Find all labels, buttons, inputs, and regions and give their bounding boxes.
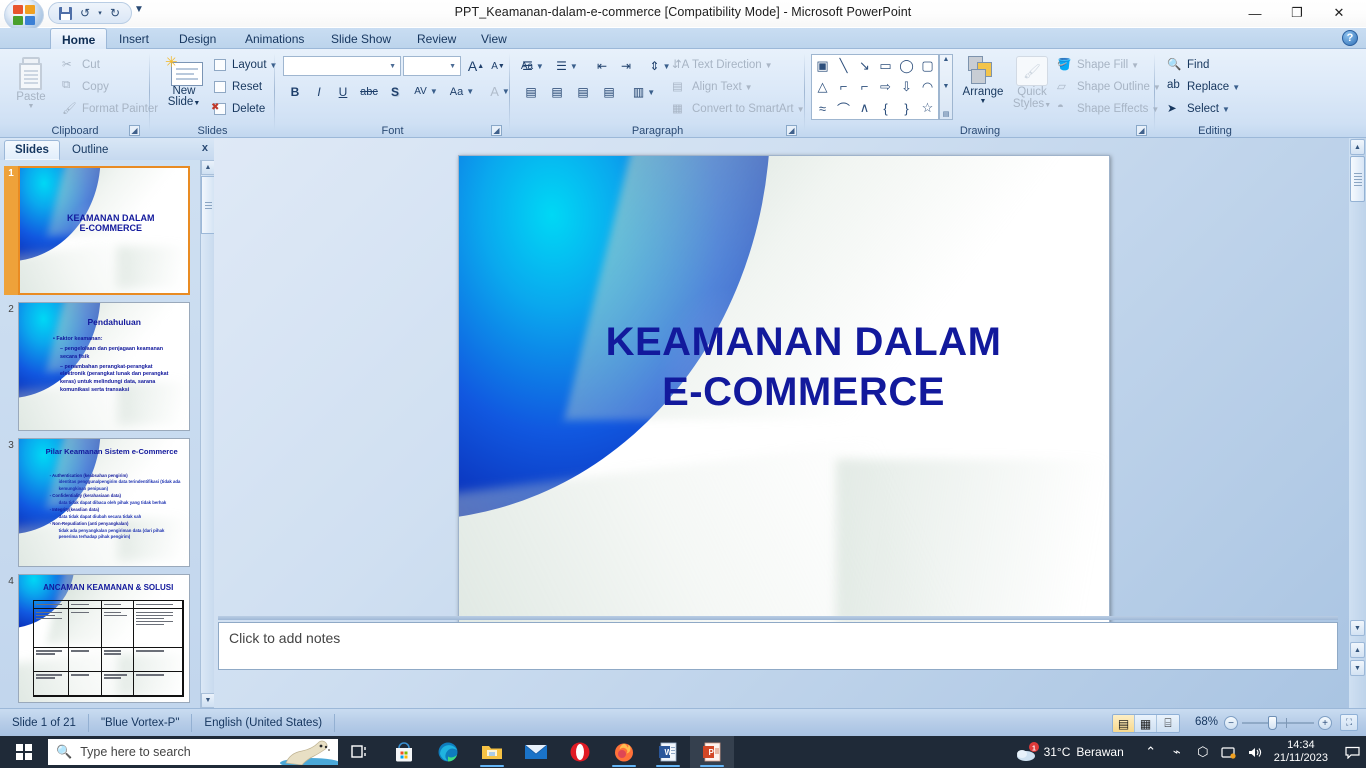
- search-icon: 🔍: [56, 744, 72, 760]
- language-indicator[interactable]: English (United States): [192, 714, 335, 732]
- cursor-icon: ➤: [1167, 101, 1183, 117]
- shape-fill-icon: 🪣: [1057, 57, 1073, 73]
- tab-design[interactable]: Design: [168, 28, 227, 49]
- slide-thumbnail-list[interactable]: 1 KEAMANAN DALAM E-COMMERCE 2 Pendahulua…: [0, 160, 200, 708]
- shape-right-arrow-icon[interactable]: ⇨: [875, 76, 896, 97]
- zoom-handle[interactable]: [1268, 716, 1277, 730]
- group-drawing: ▣ ╲ ↘ ▭ ◯ ▢ △ ⌐ ⌐ ⇨ ⇩ ◠ ≈ ⌒ ∧ { } ☆ ▲ ▼ …: [805, 49, 1155, 138]
- weather-widget[interactable]: 1 31°C Berawan: [1014, 741, 1124, 763]
- slide-title-line-1: KEAMANAN DALAM: [537, 317, 1070, 367]
- microsoft-edge-icon: [437, 741, 459, 763]
- arrange-label: Arrange: [963, 86, 1004, 98]
- group-paragraph: ☰▼ ☰▼ ⇤ ⇥ ⇕▼ ▤ ▤ ▤ ▤ ▥▼ ⇵A Text Directio…: [510, 49, 805, 138]
- text-direction-icon: ⇵A: [672, 57, 688, 73]
- scroll-thumb[interactable]: [1350, 156, 1365, 202]
- close-button[interactable]: ✕: [1318, 1, 1360, 25]
- restore-button[interactable]: ❐: [1276, 1, 1318, 25]
- tab-animations[interactable]: Animations: [234, 28, 315, 49]
- system-tray: 1 31°C Berawan ⌃ ⌁ ⬡ 14:34 21/11/2023: [1014, 736, 1366, 768]
- volume-glyph: [1247, 746, 1262, 759]
- italic-button[interactable]: I: [307, 81, 331, 102]
- underline-button[interactable]: U: [331, 81, 355, 102]
- copy-label: Copy: [82, 81, 109, 93]
- weather-badge: 1: [1032, 746, 1036, 753]
- svg-text:P: P: [709, 748, 715, 757]
- group-editing: 🔍 Find ab Replace▼ ➤ Select▼ Editing: [1155, 49, 1275, 138]
- slide-thumbnail-canvas-2[interactable]: Pendahuluan • Faktor keamanan: – pengelo…: [18, 302, 190, 431]
- shape-rectangle-icon[interactable]: ▭: [875, 55, 896, 76]
- gallery-scroll-up-icon[interactable]: ▲: [943, 56, 950, 63]
- tab-review[interactable]: Review: [406, 28, 467, 49]
- title-bar: ↺ ▾ ↻ ▼ PPT_Keamanan-dalam-e-commerce [C…: [0, 0, 1366, 28]
- cut-label: Cut: [82, 59, 100, 71]
- shape-textbox-icon[interactable]: ▣: [812, 55, 833, 76]
- shape-arrow-icon[interactable]: ↘: [854, 55, 875, 76]
- firefox-button[interactable]: [602, 736, 646, 768]
- shape-right-brace-icon[interactable]: }: [896, 98, 917, 119]
- tab-slides[interactable]: Slides: [4, 140, 60, 160]
- quick-styles-label-2: Styles: [1013, 98, 1044, 110]
- shape-curve-icon[interactable]: ⌒: [833, 98, 854, 119]
- new-slide-label-2: Slide: [168, 96, 194, 108]
- search-placeholder: Type here to search: [80, 745, 190, 759]
- seal-mascot-icon: [276, 739, 338, 765]
- slide-sorter-view-button[interactable]: ▦: [1135, 715, 1157, 732]
- slide-number-4: 4: [4, 574, 18, 703]
- align-left-button[interactable]: ▤: [518, 81, 544, 103]
- group-slides: ✳ New Slide▼ Layout▼ Reset ✖ Delete Slid…: [150, 49, 275, 138]
- camera-icon[interactable]: ⬡: [1190, 736, 1216, 768]
- font-size-combo[interactable]: ▼: [403, 56, 461, 76]
- slide-thumbnail-3[interactable]: 3 Pilar Keamanan Sistem e-Commerce - Aut…: [4, 438, 196, 567]
- shape-effects-button[interactable]: ◓ Shape Effects▼: [1057, 101, 1159, 117]
- action-center-button[interactable]: [1338, 736, 1366, 768]
- bold-button[interactable]: B: [283, 81, 307, 102]
- arrange-button[interactable]: Arrange ▼: [959, 54, 1007, 122]
- delete-slide-button[interactable]: ✖ Delete: [212, 101, 265, 117]
- clock-date: 21/11/2023: [1274, 752, 1328, 765]
- slide-thumbnail-canvas-1[interactable]: KEAMANAN DALAM E-COMMERCE: [18, 166, 190, 295]
- group-label-paragraph: Paragraph: [510, 125, 805, 137]
- group-label-slides: Slides: [150, 125, 275, 137]
- quick-styles-label-1: Quick: [1017, 86, 1046, 98]
- ribbon: Paste ▼ ✂ Cut ⧉ Copy 🖌 Format Painter Cl…: [0, 49, 1366, 138]
- task-view-button[interactable]: [338, 736, 382, 768]
- drawing-dialog-launcher[interactable]: ◢: [1136, 125, 1147, 136]
- tab-home[interactable]: Home: [50, 28, 107, 50]
- firefox-icon: [613, 741, 635, 763]
- find-button[interactable]: 🔍 Find: [1167, 57, 1209, 73]
- slides-outline-panel: Slides Outline x 1 KEAMANAN DALAM E-COMM…: [0, 138, 214, 708]
- align-text-icon: ▤: [672, 79, 688, 95]
- align-text-button[interactable]: ▤ Align Text▼: [672, 79, 753, 95]
- layout-icon: [212, 57, 228, 73]
- slide-thumbnail-2[interactable]: 2 Pendahuluan • Faktor keamanan: – penge…: [4, 302, 196, 431]
- smartart-icon: ▦: [672, 101, 688, 117]
- quick-styles-button[interactable]: 🖌 Quick Styles▼: [1009, 54, 1055, 122]
- search-input[interactable]: 🔍 Type here to search: [48, 739, 338, 765]
- thumb-table-4: [33, 600, 184, 697]
- network-glyph: [1221, 746, 1236, 759]
- shape-effects-label: Shape Effects: [1077, 103, 1148, 115]
- group-label-font: Font: [275, 125, 510, 137]
- microsoft-store-button[interactable]: [382, 736, 426, 768]
- align-text-label: Align Text: [692, 81, 742, 93]
- microsoft-powerpoint-icon: P: [701, 741, 723, 763]
- panel-scroll-up-icon[interactable]: ▲: [201, 160, 215, 175]
- next-slide-icon[interactable]: ▼: [1350, 660, 1365, 676]
- delete-label: Delete: [232, 103, 265, 115]
- main-slide-canvas[interactable]: KEAMANAN DALAM E-COMMERCE: [458, 155, 1110, 645]
- tab-view[interactable]: View: [470, 28, 518, 49]
- shape-rounded-rect-icon[interactable]: ▢: [917, 55, 938, 76]
- change-case-button[interactable]: Aa▼: [445, 81, 479, 102]
- windows-taskbar: 🔍 Type here to search: [0, 736, 1366, 768]
- cloud-icon: 1: [1014, 741, 1040, 763]
- shape-down-arrow-icon[interactable]: ⇩: [896, 76, 917, 97]
- zoom-out-button[interactable]: −: [1224, 716, 1238, 730]
- slide-thumbnail-canvas-3[interactable]: Pilar Keamanan Sistem e-Commerce - Authe…: [18, 438, 190, 567]
- gallery-more-icon[interactable]: ▤: [943, 110, 950, 118]
- quick-styles-icon: 🖌: [1016, 56, 1048, 86]
- thumb-body-3: - Authentication (keabsahan pengirim) id…: [50, 472, 183, 540]
- zoom-percentage: 68%: [1195, 716, 1218, 728]
- decrease-indent-button[interactable]: ⇤: [590, 55, 614, 77]
- replace-button[interactable]: ab Replace▼: [1167, 79, 1240, 95]
- slide-title-line-2: E-COMMERCE: [537, 367, 1070, 417]
- zoom-in-button[interactable]: +: [1318, 716, 1332, 730]
- zoom-slider[interactable]: − +: [1224, 716, 1332, 730]
- previous-slide-icon[interactable]: ▲: [1350, 642, 1365, 658]
- increase-indent-button[interactable]: ⇥: [614, 55, 638, 77]
- new-slide-icon: ✳: [165, 56, 203, 86]
- find-label: Find: [1187, 59, 1209, 71]
- shape-arc-icon[interactable]: ∧: [854, 98, 875, 119]
- clock-time: 14:34: [1274, 739, 1328, 752]
- replace-icon: ab: [1167, 79, 1183, 95]
- select-label: Select: [1187, 103, 1219, 115]
- justify-button[interactable]: ▤: [596, 81, 622, 103]
- scissors-icon: ✂: [62, 57, 78, 73]
- reset-label: Reset: [232, 81, 262, 93]
- reset-icon: [212, 79, 228, 95]
- layout-button[interactable]: Layout▼: [212, 57, 277, 73]
- cut-button[interactable]: ✂ Cut: [62, 57, 100, 73]
- font-dialog-launcher[interactable]: ◢: [491, 125, 502, 136]
- scroll-up-icon[interactable]: ▲: [1350, 139, 1365, 155]
- slide-vertical-scrollbar[interactable]: ▲ ▼ ▲ ▼: [1349, 138, 1366, 708]
- new-slide-button[interactable]: ✳ New Slide▼: [158, 54, 210, 122]
- volume-icon[interactable]: [1242, 736, 1268, 768]
- character-spacing-label: AV: [414, 86, 427, 97]
- text-direction-button[interactable]: ⇵A Text Direction▼: [672, 57, 773, 73]
- shapes-gallery[interactable]: ▣ ╲ ↘ ▭ ◯ ▢ △ ⌐ ⌐ ⇨ ⇩ ◠ ≈ ⌒ ∧ { } ☆: [811, 54, 939, 120]
- window-title: PPT_Keamanan-dalam-e-commerce [Compatibi…: [0, 5, 1366, 19]
- start-button[interactable]: [0, 736, 48, 768]
- panel-scrollbar[interactable]: ▲ ▼: [200, 160, 214, 708]
- slide-number-2: 2: [4, 302, 18, 431]
- shape-star-icon[interactable]: ☆: [917, 98, 938, 119]
- microsoft-edge-button[interactable]: [426, 736, 470, 768]
- group-font: ▼ ▼ A▲ A▼ Aa B I U abc S AV▼ Aa▼ A▼ Font…: [275, 49, 510, 138]
- copy-button[interactable]: ⧉ Copy: [62, 79, 109, 95]
- thumb-heading-2: Pendahuluan: [50, 317, 179, 327]
- shape-triangle-icon[interactable]: △: [812, 76, 833, 97]
- zoom-track[interactable]: [1242, 722, 1314, 724]
- group-label-clipboard: Clipboard: [0, 125, 150, 137]
- slide-thumbnail-1[interactable]: 1 KEAMANAN DALAM E-COMMERCE: [4, 166, 196, 295]
- slide-show-view-button[interactable]: ⌸: [1157, 715, 1179, 732]
- paragraph-dialog-launcher[interactable]: ◢: [786, 125, 797, 136]
- task-view-icon: [351, 744, 369, 760]
- notes-pane[interactable]: Click to add notes: [218, 622, 1338, 670]
- ribbon-tab-strip: Home Insert Design Animations Slide Show…: [0, 28, 1366, 49]
- help-icon[interactable]: ?: [1342, 30, 1358, 46]
- mail-icon: [524, 743, 548, 761]
- reset-button[interactable]: Reset: [212, 79, 262, 95]
- panel-scroll-thumb[interactable]: [201, 176, 215, 234]
- grow-font-button[interactable]: A▲: [465, 56, 487, 76]
- binoculars-icon: 🔍: [1167, 57, 1183, 73]
- thumb-heading-3: Pilar Keamanan Sistem e-Commerce: [43, 447, 181, 456]
- text-shadow-button[interactable]: S: [383, 81, 407, 102]
- weather-temperature: 31°C: [1044, 745, 1071, 759]
- clock[interactable]: 14:34 21/11/2023: [1268, 739, 1338, 765]
- tab-outline[interactable]: Outline: [62, 140, 118, 160]
- microsoft-powerpoint-button[interactable]: P: [690, 736, 734, 768]
- columns-button[interactable]: ▥▼: [628, 81, 660, 103]
- mail-button[interactable]: [514, 736, 558, 768]
- convert-to-smartart-button[interactable]: ▦ Convert to SmartArt▼: [672, 101, 805, 117]
- shape-outline-icon: ▱: [1057, 79, 1073, 95]
- shrink-font-label: A: [491, 61, 498, 72]
- theme-name[interactable]: "Blue Vortex-P": [89, 714, 192, 732]
- file-explorer-icon: [480, 742, 504, 762]
- clipboard-dialog-launcher[interactable]: ◢: [129, 125, 140, 136]
- shape-line-icon[interactable]: ╲: [833, 55, 854, 76]
- font-color-label: A: [490, 84, 499, 99]
- numbering-button[interactable]: ☰▼: [552, 55, 582, 77]
- microsoft-word-button[interactable]: W: [646, 736, 690, 768]
- shape-elbow-arrow-icon[interactable]: ⌐: [854, 76, 875, 97]
- microsoft-store-icon: [393, 741, 415, 763]
- opera-button[interactable]: [558, 736, 602, 768]
- microsoft-word-icon: W: [657, 741, 679, 763]
- notes-splitter[interactable]: [218, 616, 1338, 620]
- slide-thumbnail-canvas-4[interactable]: ANCAMAN KEAMANAN & SOLUSI: [18, 574, 190, 703]
- shape-outline-button[interactable]: ▱ Shape Outline▼: [1057, 79, 1161, 95]
- layout-label: Layout: [232, 59, 267, 71]
- group-label-drawing: Drawing: [805, 125, 1155, 137]
- shape-fill-label: Shape Fill: [1077, 59, 1128, 71]
- shape-elbow-connector-icon[interactable]: ⌐: [833, 76, 854, 97]
- delete-icon: ✖: [212, 101, 228, 117]
- paste-icon: [16, 57, 46, 91]
- view-buttons: ▤ ▦ ⌸: [1112, 714, 1180, 733]
- select-button[interactable]: ➤ Select▼: [1167, 101, 1230, 117]
- tab-insert[interactable]: Insert: [108, 28, 160, 49]
- fit-slide-to-window-button[interactable]: ⛶: [1340, 714, 1358, 731]
- paste-label: Paste: [16, 91, 45, 103]
- normal-view-button[interactable]: ▤: [1113, 715, 1135, 732]
- thumb-heading-4: ANCAMAN KEAMANAN & SOLUSI: [33, 583, 184, 592]
- file-explorer-button[interactable]: [470, 736, 514, 768]
- slide-number-1: 1: [4, 166, 18, 295]
- group-clipboard: Paste ▼ ✂ Cut ⧉ Copy 🖌 Format Painter Cl…: [0, 49, 150, 138]
- panel-scroll-down-icon[interactable]: ▼: [201, 693, 215, 708]
- action-center-icon: [1345, 746, 1360, 759]
- copy-icon: ⧉: [62, 79, 78, 95]
- panel-tab-strip: Slides Outline x: [0, 138, 214, 160]
- group-label-editing: Editing: [1155, 125, 1275, 137]
- shapes-gallery-scrollbar[interactable]: ▲ ▼ ▤: [939, 54, 953, 120]
- thumb-body-2: • Faktor keamanan: – pengelolaan dan pen…: [53, 336, 177, 397]
- shape-cloud-icon[interactable]: ◠: [917, 76, 938, 97]
- paste-button[interactable]: Paste ▼: [8, 54, 54, 122]
- convert-smartart-label: Convert to SmartArt: [692, 103, 794, 115]
- thumb-title-1: KEAMANAN DALAM E-COMMERCE: [44, 213, 178, 234]
- shape-fill-button[interactable]: 🪣 Shape Fill▼: [1057, 57, 1139, 73]
- opera-icon: [569, 741, 591, 763]
- slide-counter[interactable]: Slide 1 of 21: [0, 714, 89, 732]
- slide-thumbnail-4[interactable]: 4 ANCAMAN KEAMANAN & SOLUSI: [4, 574, 196, 703]
- strikethrough-button[interactable]: abc: [355, 81, 383, 102]
- replace-label: Replace: [1187, 81, 1229, 93]
- svg-text:W: W: [665, 748, 673, 757]
- gallery-scroll-down-icon[interactable]: ▼: [943, 83, 950, 90]
- close-panel-icon[interactable]: x: [202, 142, 208, 154]
- bullets-button[interactable]: ☰▼: [518, 55, 548, 77]
- paintbrush-icon: 🖌: [62, 101, 78, 117]
- align-right-button[interactable]: ▤: [570, 81, 596, 103]
- text-direction-label: Text Direction: [692, 59, 762, 71]
- shape-effects-icon: ◓: [1057, 101, 1073, 117]
- slide-title-placeholder[interactable]: KEAMANAN DALAM E-COMMERCE: [537, 317, 1070, 417]
- shrink-font-button[interactable]: A▼: [487, 56, 509, 76]
- bluetooth-icon[interactable]: ⌁: [1164, 736, 1190, 768]
- arrange-icon: [966, 56, 1000, 86]
- format-painter-button[interactable]: 🖌 Format Painter: [62, 101, 158, 117]
- windows-logo-icon: [16, 744, 32, 760]
- status-bar: Slide 1 of 21 "Blue Vortex-P" English (U…: [0, 708, 1366, 736]
- shape-oval-icon[interactable]: ◯: [896, 55, 917, 76]
- show-hidden-icons-button[interactable]: ⌃: [1138, 736, 1164, 768]
- scroll-down-icon[interactable]: ▼: [1350, 620, 1365, 636]
- slide-number-3: 3: [4, 438, 18, 567]
- minimize-button[interactable]: —: [1234, 1, 1276, 25]
- font-name-combo[interactable]: ▼: [283, 56, 401, 76]
- slide-editing-area: KEAMANAN DALAM E-COMMERCE Click to add n…: [214, 138, 1366, 708]
- zoom-midpoint-tick: [1286, 718, 1287, 728]
- tab-slide-show[interactable]: Slide Show: [320, 28, 402, 49]
- align-center-button[interactable]: ▤: [544, 81, 570, 103]
- shape-freeform-icon[interactable]: ≈: [812, 98, 833, 119]
- format-painter-label: Format Painter: [82, 103, 158, 115]
- window-controls: — ❐ ✕: [1234, 1, 1360, 25]
- weather-condition: Berawan: [1076, 745, 1123, 759]
- shape-outline-label: Shape Outline: [1077, 81, 1150, 93]
- shape-left-brace-icon[interactable]: {: [875, 98, 896, 119]
- change-case-label: Aa: [450, 86, 463, 98]
- network-icon[interactable]: [1216, 736, 1242, 768]
- character-spacing-button[interactable]: AV▼: [409, 81, 443, 102]
- grow-font-label: A: [468, 58, 477, 74]
